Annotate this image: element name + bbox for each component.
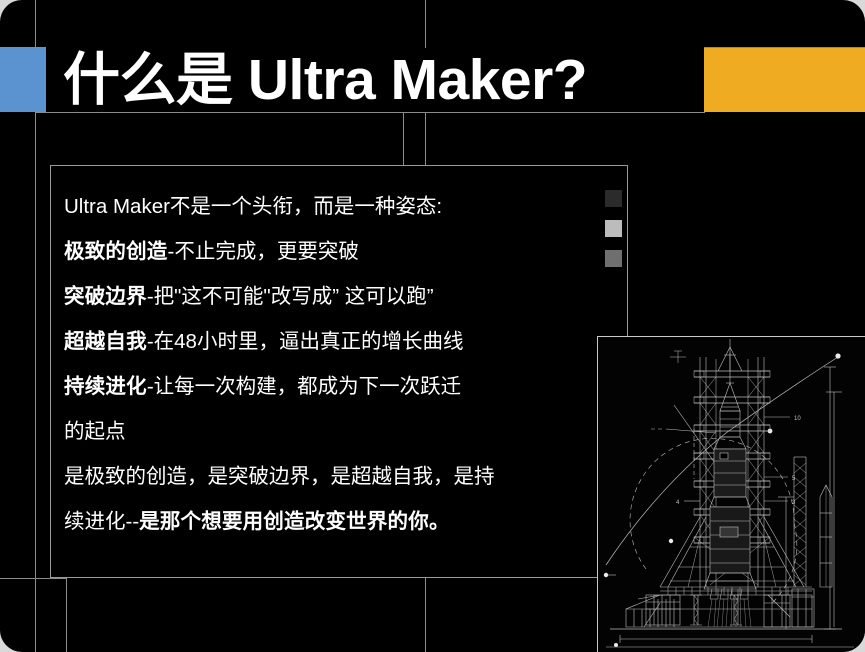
square-light: [605, 220, 622, 237]
grid-line-horizontal-1: [35, 112, 705, 113]
callout-label-4: 4: [676, 500, 680, 506]
square-dark: [605, 190, 622, 207]
page-title: 什么是 Ultra Maker?: [63, 52, 587, 109]
slide-canvas: 什么是 Ultra Maker? Ultra Maker不是一个头衔，而是一种姿…: [0, 0, 865, 652]
grid-line-vertical-4: [66, 578, 67, 652]
body-text-panel: Ultra Maker不是一个头衔，而是一种姿态: 极致的创造-不止完成，更要突…: [50, 165, 628, 578]
gold-accent-block: [704, 48, 865, 112]
blue-accent-block: [0, 48, 46, 112]
grid-line-horizontal-4: [0, 578, 66, 579]
title-bar: 什么是 Ultra Maker?: [46, 48, 704, 112]
body-line-2: 极致的创造-不止完成，更要突破: [64, 229, 605, 274]
body-line-8: 续进化--是那个想要用创造改变世界的你。: [64, 499, 605, 544]
body-line-3-text: -把"这不可能"改写成” 这可以跑”: [147, 285, 434, 308]
body-line-2-keyword: 极致的创造: [64, 240, 168, 263]
callout-label-5: 5: [792, 476, 796, 482]
body-line-4-keyword: 超越自我: [64, 330, 147, 353]
body-line-5-text: -让每一次构建，都成为下一次跃迁: [147, 375, 461, 398]
body-line-6: 的起点: [64, 409, 605, 454]
callout-label-10: 10: [794, 416, 801, 422]
body-line-4: 超越自我-在48小时里，逼出真正的增长曲线: [64, 319, 605, 364]
body-line-4-text: -在48小时里，逼出真正的增长曲线: [147, 330, 464, 353]
body-line-3-keyword: 突破边界: [64, 285, 147, 308]
rocket-blueprint-panel: 10 5 3 4: [597, 336, 865, 652]
body-line-1: Ultra Maker不是一个头衔，而是一种姿态:: [64, 184, 605, 229]
body-line-1-text: Ultra Maker不是一个头衔，而是一种姿态:: [64, 195, 442, 218]
body-line-8-emphasis: 是那个想要用创造改变世界的你。: [139, 510, 450, 533]
body-line-7-text: 是极致的创造，是突破边界，是超越自我，是持: [64, 465, 495, 488]
body-line-5-keyword: 持续进化: [64, 375, 147, 398]
body-line-7: 是极致的创造，是突破边界，是超越自我，是持: [64, 454, 605, 499]
body-line-2-text: -不止完成，更要突破: [168, 240, 359, 263]
body-line-8-prefix: 续进化--: [64, 510, 139, 533]
callout-label-3: 3: [792, 500, 796, 506]
saturn-v-rocket-blueprint-illustration: 10 5 3 4: [598, 337, 865, 652]
body-line-5: 持续进化-让每一次构建，都成为下一次跃迁: [64, 364, 605, 409]
square-mid: [605, 250, 622, 267]
body-line-3: 突破边界-把"这不可能"改写成” 这可以跑”: [64, 274, 605, 319]
body-line-6-text: 的起点: [64, 420, 126, 443]
